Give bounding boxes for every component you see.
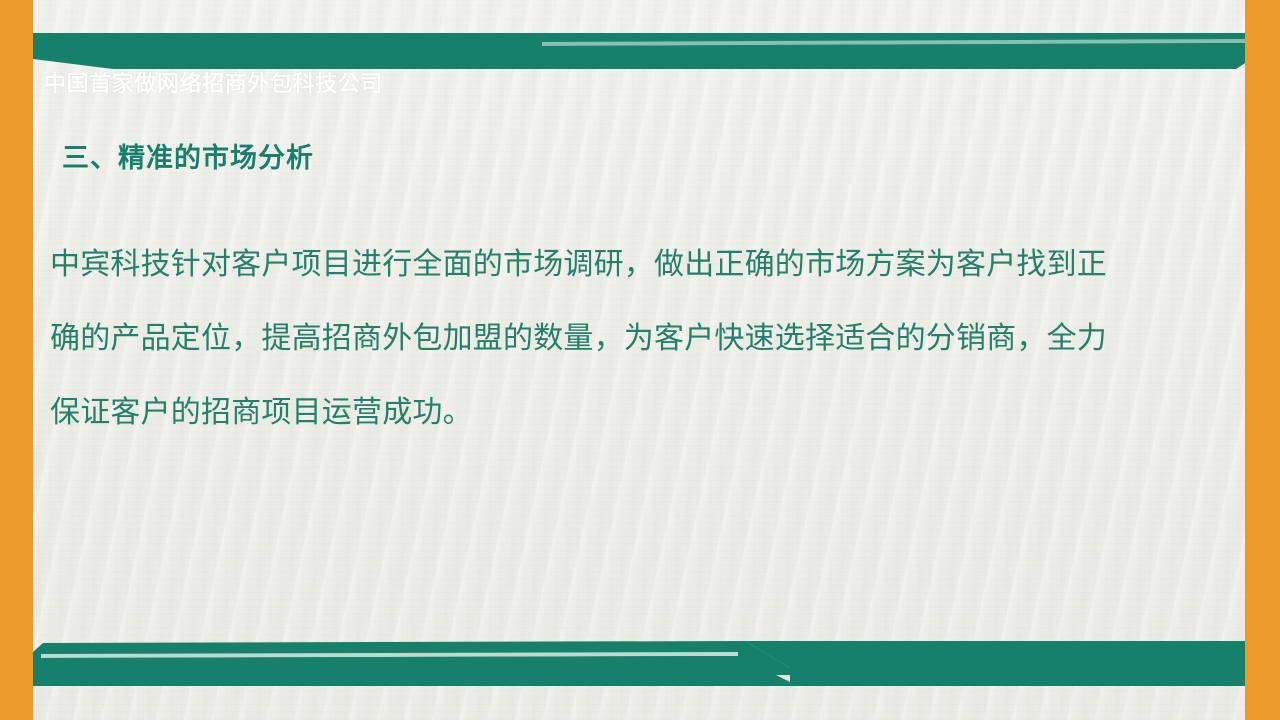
body-line-2: 确的产品定位，提高招商外包加盟的数量，为客户快速选择适合的分销商，全力 <box>50 302 1183 376</box>
footer-band: 按效果付费，前期不收任何费用 <box>33 630 1245 690</box>
header-title: 中国首家做网络招商外包科技公司 <box>44 64 564 100</box>
header-band-lower <box>542 43 1245 69</box>
body-paragraph: 中宾科技针对客户项目进行全面的市场调研，做出正确的市场方案为客户找到正 确的产品… <box>50 228 1183 450</box>
section-heading: 三、精准的市场分析 <box>62 136 314 175</box>
header-band: 中国首家做网络招商外包科技公司 <box>33 33 1245 69</box>
footer-band-shape <box>33 630 1245 690</box>
body-line-1: 中宾科技针对客户项目进行全面的市场调研，做出正确的市场方案为客户找到正 <box>50 228 1183 302</box>
footer-band-right <box>790 648 1245 686</box>
body-line-3: 保证客户的招商项目运营成功。 <box>50 376 1183 450</box>
slide-canvas: 中国首家做网络招商外包科技公司 三、精准的市场分析 中宾科技针对客户项目进行全面… <box>0 0 1280 720</box>
